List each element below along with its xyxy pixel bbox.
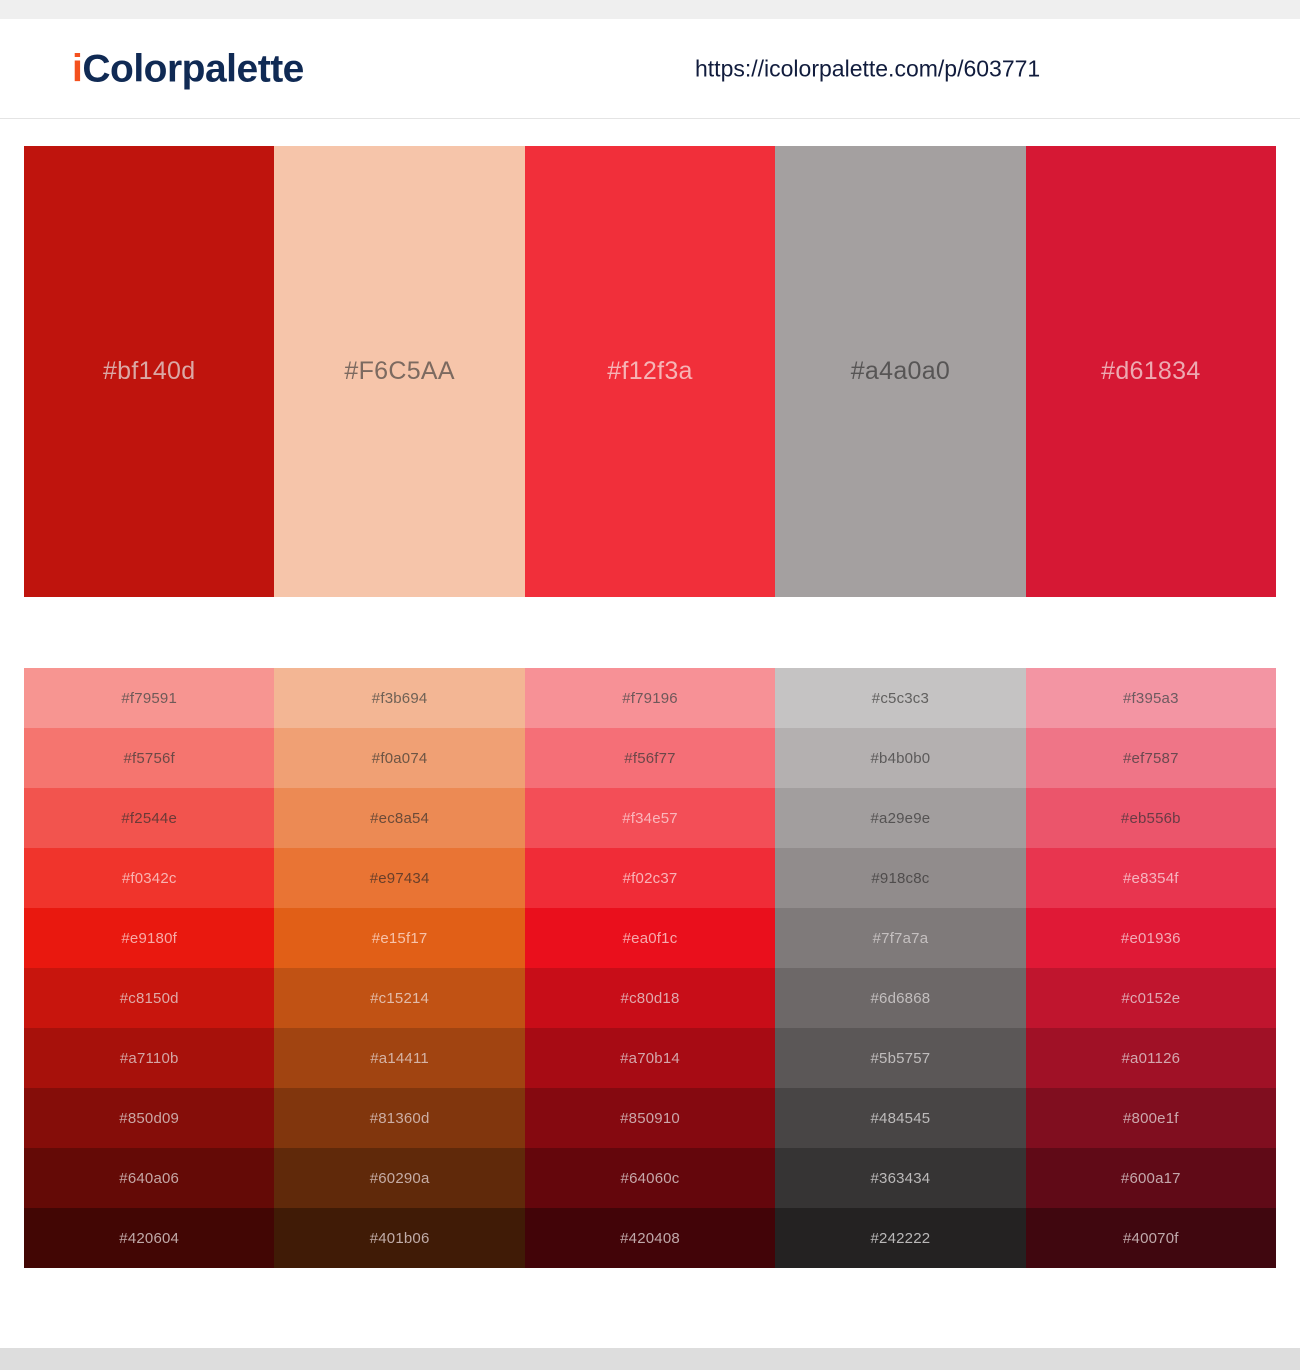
shade-hex-label: #e8354f [1123,871,1179,886]
shade-cell[interactable]: #f3b694 [274,668,524,728]
shade-hex-label: #64060c [621,1171,680,1186]
shade-cell[interactable]: #a14411 [274,1028,524,1088]
shade-column: #f395a3#ef7587#eb556b#e8354f#e01936#c015… [1026,668,1276,1268]
main-swatch-row: #bf140d#F6C5AA#f12f3a#a4a0a0#d61834 [24,146,1276,597]
shade-cell[interactable]: #918c8c [775,848,1025,908]
shade-column: #f3b694#f0a074#ec8a54#e97434#e15f17#c152… [274,668,524,1268]
shade-cell[interactable]: #64060c [525,1148,775,1208]
shade-hex-label: #f56f77 [624,751,675,766]
main-swatch[interactable]: #F6C5AA [274,146,524,597]
shade-hex-label: #918c8c [871,871,929,886]
shade-cell[interactable]: #850d09 [24,1088,274,1148]
site-header: iColorpalette https://icolorpalette.com/… [0,19,1300,119]
main-swatch[interactable]: #f12f3a [525,146,775,597]
shade-hex-label: #420604 [119,1231,179,1246]
shade-cell[interactable]: #800e1f [1026,1088,1276,1148]
shade-cell[interactable]: #60290a [274,1148,524,1208]
shade-hex-label: #f02c37 [623,871,678,886]
shade-cell[interactable]: #e15f17 [274,908,524,968]
shade-cell[interactable]: #420604 [24,1208,274,1268]
shade-cell[interactable]: #f0a074 [274,728,524,788]
browser-bottom-strip [0,1348,1300,1370]
shade-column: #f79591#f5756f#f2544e#f0342c#e9180f#c815… [24,668,274,1268]
shade-hex-label: #e9180f [121,931,177,946]
shade-hex-label: #401b06 [370,1231,430,1246]
shade-hex-label: #e15f17 [372,931,428,946]
shade-hex-label: #b4b0b0 [871,751,931,766]
shade-cell[interactable]: #a29e9e [775,788,1025,848]
shade-hex-label: #363434 [871,1171,931,1186]
main-swatch-hex-label: #f12f3a [607,359,693,384]
shade-hex-label: #c0152e [1121,991,1180,1006]
shade-cell[interactable]: #401b06 [274,1208,524,1268]
shade-cell[interactable]: #a70b14 [525,1028,775,1088]
shade-hex-label: #a7110b [120,1051,179,1066]
shade-hex-label: #e97434 [370,871,430,886]
shade-cell[interactable]: #ec8a54 [274,788,524,848]
shade-cell[interactable]: #c5c3c3 [775,668,1025,728]
shade-hex-label: #60290a [370,1171,430,1186]
shade-cell[interactable]: #e8354f [1026,848,1276,908]
shade-cell[interactable]: #40070f [1026,1208,1276,1268]
shade-cell[interactable]: #f0342c [24,848,274,908]
shade-hex-label: #640a06 [119,1171,179,1186]
shade-cell[interactable]: #420408 [525,1208,775,1268]
shade-hex-label: #420408 [620,1231,680,1246]
shade-cell[interactable]: #7f7a7a [775,908,1025,968]
main-swatch[interactable]: #d61834 [1026,146,1276,597]
shade-hex-label: #f2544e [121,811,177,826]
shade-column: #c5c3c3#b4b0b0#a29e9e#918c8c#7f7a7a#6d68… [775,668,1025,1268]
shade-hex-label: #ef7587 [1123,751,1179,766]
color-palette-page: iColorpalette https://icolorpalette.com/… [0,0,1300,1370]
main-swatch[interactable]: #a4a0a0 [775,146,1025,597]
shade-hex-label: #a14411 [370,1051,429,1066]
shade-hex-label: #f79591 [121,691,177,706]
shade-cell[interactable]: #242222 [775,1208,1025,1268]
shade-cell[interactable]: #f79591 [24,668,274,728]
shade-cell[interactable]: #eb556b [1026,788,1276,848]
shade-cell[interactable]: #e01936 [1026,908,1276,968]
shade-hex-label: #800e1f [1123,1111,1179,1126]
shade-cell[interactable]: #f79196 [525,668,775,728]
browser-top-strip [0,0,1300,19]
shade-hex-label: #f0a074 [372,751,428,766]
shade-cell[interactable]: #640a06 [24,1148,274,1208]
shade-hex-label: #f79196 [622,691,678,706]
main-swatch-hex-label: #d61834 [1101,359,1200,384]
shade-cell[interactable]: #f5756f [24,728,274,788]
main-swatch[interactable]: #bf140d [24,146,274,597]
shade-hex-label: #ea0f1c [623,931,678,946]
shade-cell[interactable]: #ef7587 [1026,728,1276,788]
shade-cell[interactable]: #ea0f1c [525,908,775,968]
shade-cell[interactable]: #f02c37 [525,848,775,908]
shade-hex-label: #c15214 [370,991,429,1006]
shade-hex-label: #a70b14 [620,1051,680,1066]
shade-hex-label: #eb556b [1121,811,1181,826]
shade-hex-label: #7f7a7a [873,931,929,946]
shade-hex-label: #600a17 [1121,1171,1181,1186]
shade-cell[interactable]: #363434 [775,1148,1025,1208]
shade-hex-label: #5b5757 [871,1051,931,1066]
shade-hex-label: #6d6868 [871,991,931,1006]
shade-hex-label: #850910 [620,1111,680,1126]
shade-hex-label: #c5c3c3 [872,691,929,706]
shade-cell[interactable]: #f395a3 [1026,668,1276,728]
shade-cell[interactable]: #a7110b [24,1028,274,1088]
shade-hex-label: #ec8a54 [370,811,429,826]
shade-grid: #f79591#f5756f#f2544e#f0342c#e9180f#c815… [24,668,1276,1268]
main-swatch-hex-label: #a4a0a0 [851,359,950,384]
shade-hex-label: #f5756f [123,751,174,766]
shade-cell[interactable]: #c15214 [274,968,524,1028]
shade-cell[interactable]: #81360d [274,1088,524,1148]
shade-cell[interactable]: #6d6868 [775,968,1025,1028]
shade-hex-label: #f0342c [122,871,177,886]
shade-hex-label: #c8150d [120,991,179,1006]
shade-cell[interactable]: #850910 [525,1088,775,1148]
shade-cell[interactable]: #f2544e [24,788,274,848]
logo-wordmark: Colorpalette [82,47,304,90]
shade-hex-label: #242222 [871,1231,931,1246]
shade-cell[interactable]: #b4b0b0 [775,728,1025,788]
main-swatch-hex-label: #F6C5AA [344,359,455,384]
shade-hex-label: #81360d [370,1111,430,1126]
shade-cell[interactable]: #600a17 [1026,1148,1276,1208]
shade-hex-label: #f34e57 [622,811,678,826]
logo-i-letter: i [72,47,82,90]
shade-cell[interactable]: #c0152e [1026,968,1276,1028]
shade-cell[interactable]: #e97434 [274,848,524,908]
shade-cell[interactable]: #e9180f [24,908,274,968]
shade-hex-label: #e01936 [1121,931,1181,946]
site-logo[interactable]: iColorpalette [72,49,304,88]
shade-cell[interactable]: #c80d18 [525,968,775,1028]
shade-hex-label: #484545 [871,1111,931,1126]
shade-column: #f79196#f56f77#f34e57#f02c37#ea0f1c#c80d… [525,668,775,1268]
shade-hex-label: #850d09 [119,1111,179,1126]
shade-cell[interactable]: #f34e57 [525,788,775,848]
page-url: https://icolorpalette.com/p/603771 [695,57,1040,80]
shade-hex-label: #40070f [1123,1231,1179,1246]
shade-hex-label: #c80d18 [621,991,680,1006]
shade-cell[interactable]: #f56f77 [525,728,775,788]
shade-hex-label: #f395a3 [1123,691,1179,706]
shade-cell[interactable]: #a01126 [1026,1028,1276,1088]
main-swatch-hex-label: #bf140d [103,359,195,384]
shade-cell[interactable]: #5b5757 [775,1028,1025,1088]
shade-hex-label: #a29e9e [871,811,931,826]
shade-hex-label: #f3b694 [372,691,428,706]
shade-cell[interactable]: #c8150d [24,968,274,1028]
shade-cell[interactable]: #484545 [775,1088,1025,1148]
shade-hex-label: #a01126 [1121,1051,1180,1066]
